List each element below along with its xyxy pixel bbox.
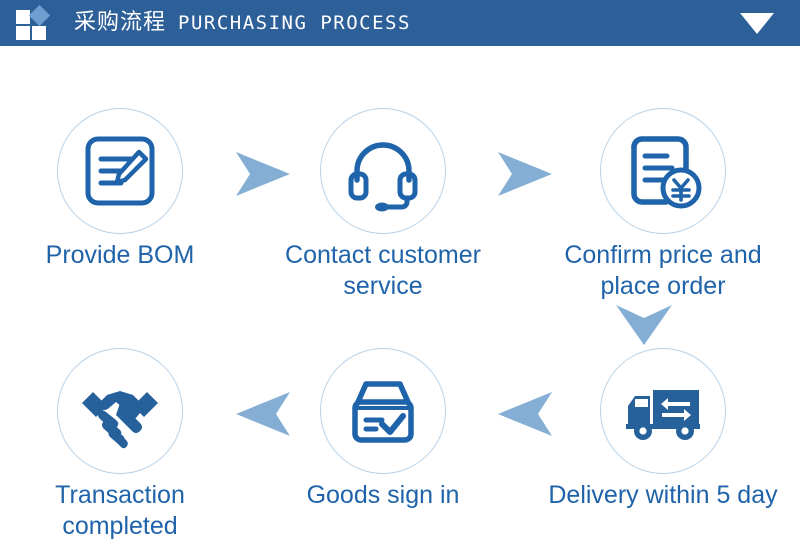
header-title-cn: 采购流程 [74, 12, 166, 34]
headset-icon [340, 128, 426, 214]
step-icon-circle [320, 348, 446, 474]
logo-square-top-left [16, 10, 30, 24]
step-icon-circle [600, 108, 726, 234]
header-title-en: PURCHASING PROCESS [178, 14, 411, 33]
logo-diamond-top-right [29, 5, 50, 26]
flow-step-transaction-completed[interactable]: Transaction completed [0, 348, 240, 542]
flow-step-label: Transaction completed [0, 480, 240, 542]
arrow-delivery-to-goods-icon [494, 390, 556, 438]
purchasing-process-flow: Provide BOM Contact customer service [0, 46, 800, 521]
flow-step-label: Confirm price and place order [543, 240, 783, 302]
invoice-yen-icon [620, 128, 706, 214]
flow-step-delivery-within-5-day[interactable]: Delivery within 5 day [543, 348, 783, 511]
flow-step-label: Provide BOM [0, 240, 240, 271]
squares-diamond-logo-icon [16, 6, 60, 40]
document-pencil-icon [77, 128, 163, 214]
page-header: 采购流程 PURCHASING PROCESS [0, 0, 800, 46]
step-icon-circle [600, 348, 726, 474]
flow-step-label: Delivery within 5 day [543, 480, 783, 511]
flow-step-label: Goods sign in [263, 480, 503, 511]
handshake-icon [76, 367, 164, 455]
package-check-icon [340, 368, 426, 454]
arrow-goods-to-transaction-icon [232, 390, 294, 438]
header-title: 采购流程 PURCHASING PROCESS [74, 12, 411, 34]
step-icon-circle [57, 108, 183, 234]
flow-step-goods-sign-in[interactable]: Goods sign in [263, 348, 503, 511]
delivery-truck-icon [620, 368, 706, 454]
flow-step-confirm-price-place-order[interactable]: Confirm price and place order [543, 108, 783, 302]
caret-down-icon[interactable] [740, 13, 774, 34]
logo-square-bottom-left [16, 26, 30, 40]
step-icon-circle [320, 108, 446, 234]
logo-square-bottom-right [32, 26, 46, 40]
step-icon-circle [57, 348, 183, 474]
arrow-price-to-delivery-icon [614, 302, 674, 348]
flow-step-label: Contact customer service [263, 240, 503, 302]
flow-step-contact-customer-service[interactable]: Contact customer service [263, 108, 503, 302]
flow-step-provide-bom[interactable]: Provide BOM [0, 108, 240, 271]
